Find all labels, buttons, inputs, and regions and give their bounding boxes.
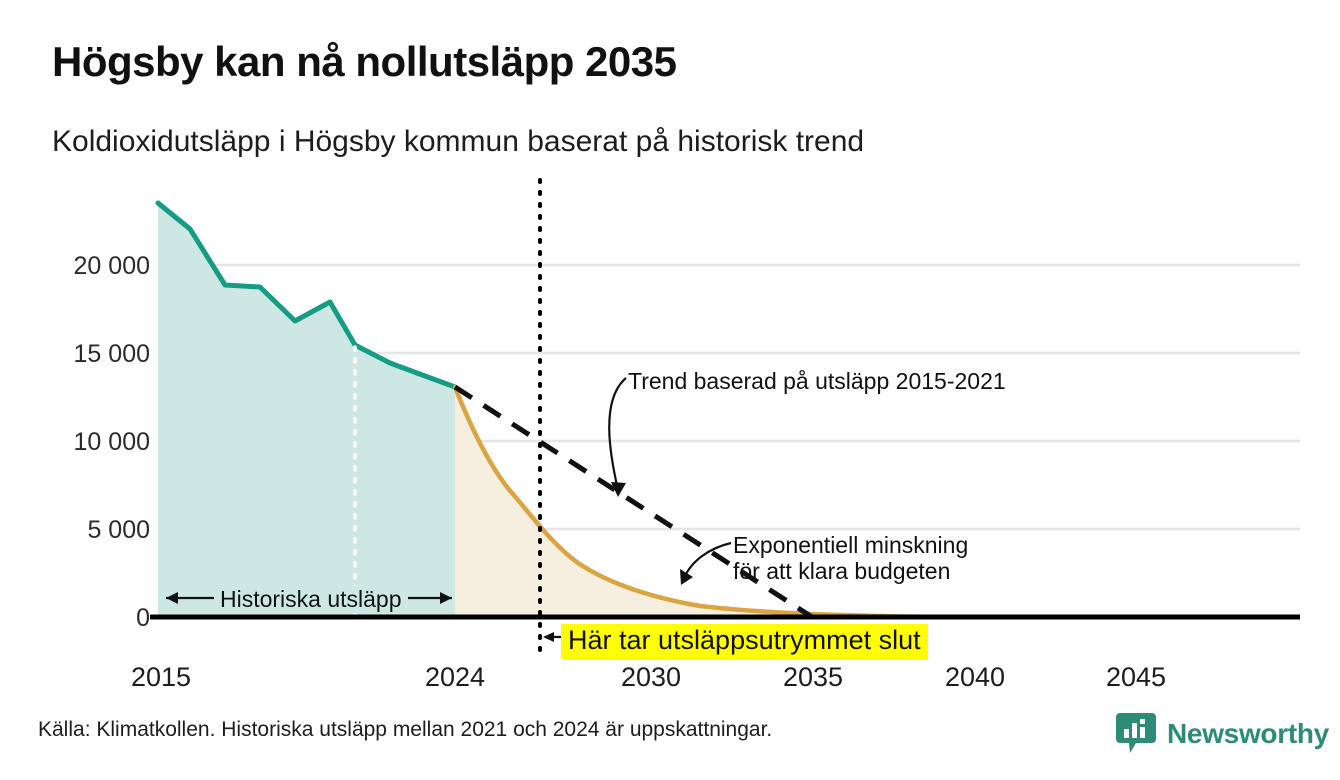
budget-end-arrow <box>543 632 562 642</box>
exp-annotation-label: Exponentiell minskning för att klara bud… <box>733 532 968 585</box>
x-tick-2045: 2045 <box>1106 662 1166 693</box>
x-tick-2035: 2035 <box>783 662 843 693</box>
budget-end-label: Här tar utsläppsutrymmet slut <box>561 624 928 659</box>
y-tick-10000: 10 000 <box>40 428 150 457</box>
x-tick-2030: 2030 <box>621 662 681 693</box>
trend-annotation-leader <box>609 378 626 497</box>
x-tick-2024: 2024 <box>425 662 485 693</box>
newsworthy-logo-text: Newsworthy <box>1167 718 1329 750</box>
x-tick-2040: 2040 <box>945 662 1005 693</box>
x-tick-2015: 2015 <box>131 662 191 693</box>
trend-annotation-label: Trend baserad på utsläpp 2015-2021 <box>628 368 1006 394</box>
y-tick-20000: 20 000 <box>40 252 150 281</box>
exp-annotation-line2: för att klara budgeten <box>733 558 968 584</box>
historic-span-label: Historiska utsläpp <box>214 586 408 613</box>
y-tick-5000: 5 000 <box>40 516 150 545</box>
exp-annotation-line1: Exponentiell minskning <box>733 532 968 558</box>
y-tick-15000: 15 000 <box>40 340 150 369</box>
newsworthy-logo: Newsworthy <box>1118 712 1329 756</box>
y-tick-0: 0 <box>40 604 150 633</box>
source-note: Källa: Klimatkollen. Historiska utsläpp … <box>38 718 772 742</box>
exp-annotation-leader <box>680 543 731 585</box>
